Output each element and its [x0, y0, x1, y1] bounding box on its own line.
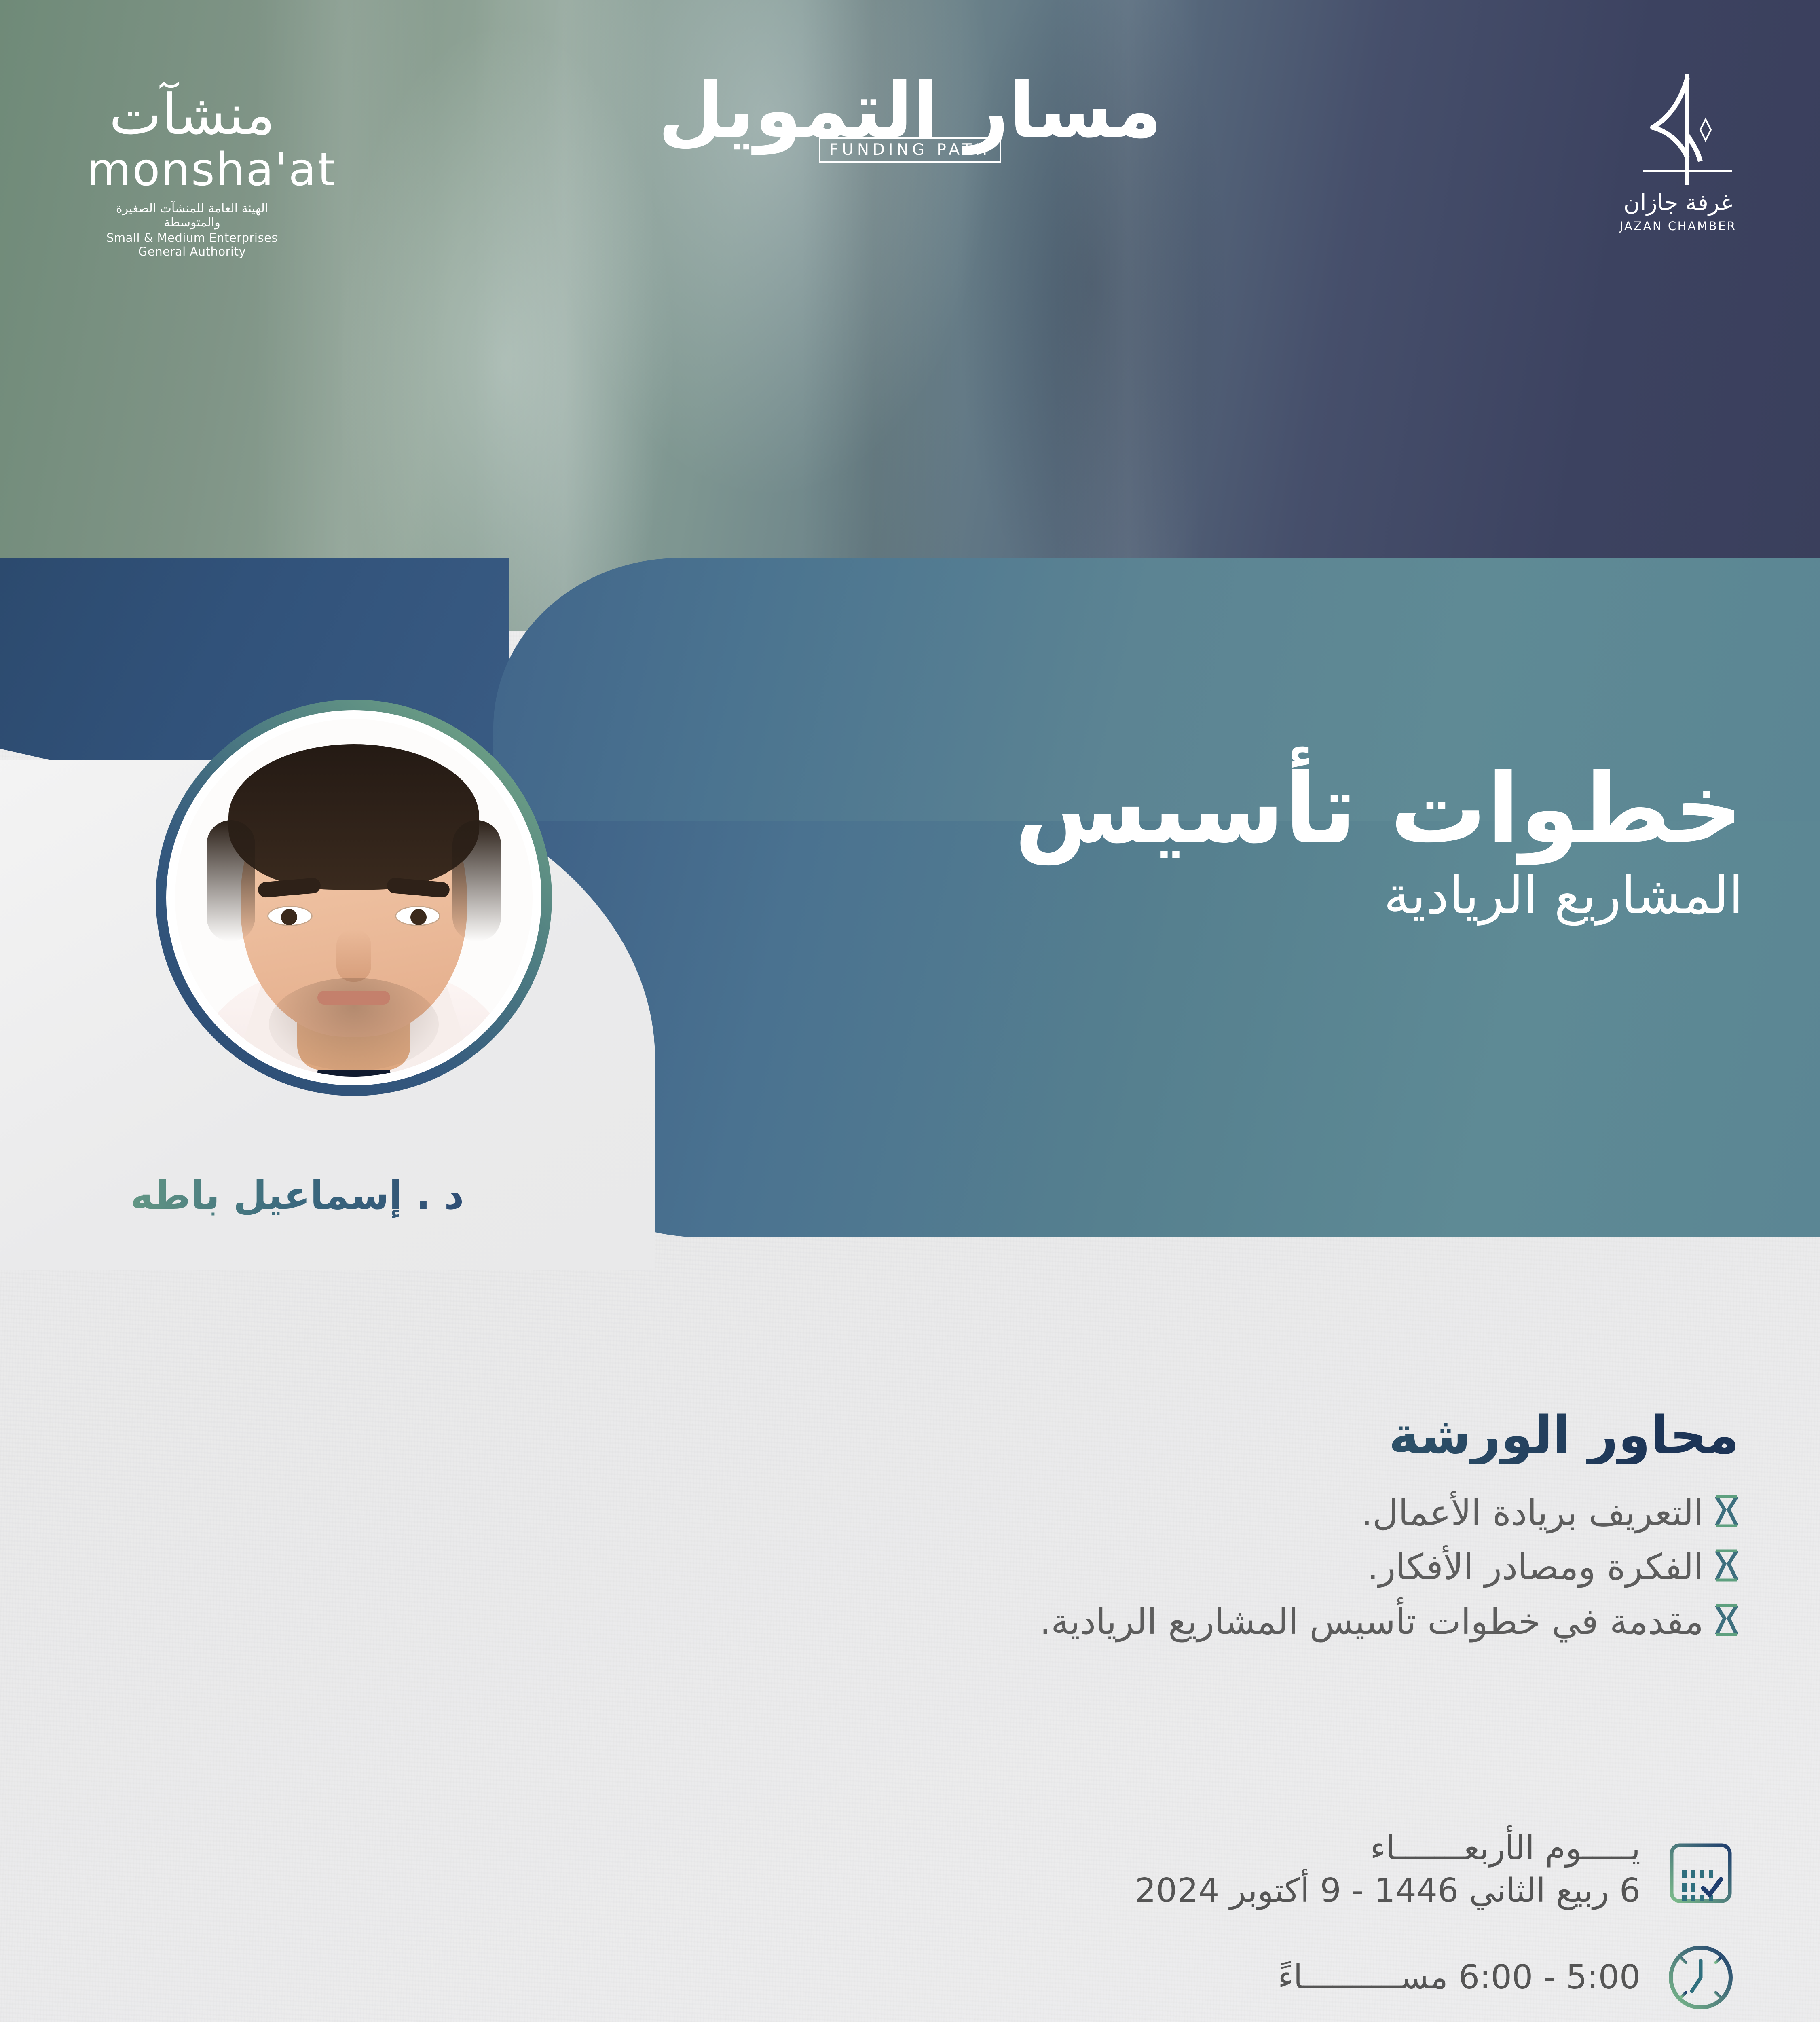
jazan-chamber-english: JAZAN CHAMBER — [1611, 219, 1745, 233]
speaker-name: د . إسماعيل باطه — [0, 1173, 594, 1218]
jazan-chamber-arabic: غرفة جازان — [1611, 190, 1745, 216]
funding-path-logo: مسار التمويل FUNDING PATH — [0, 73, 1820, 163]
agenda-item: مقدمة في خطوات تأسيس المشاريع الريادية. — [567, 1599, 1739, 1645]
sadu-bullet-icon — [1714, 1495, 1739, 1527]
event-time-value: 5:00 - 6:00 مســــــــــاءً — [1278, 1958, 1640, 1997]
workshop-title-block: خطوات تأسيس المشاريع الريادية — [571, 760, 1743, 925]
agenda-section: محاور الورشة التعريف بريادة الأعمال. الف… — [567, 1407, 1739, 1654]
speaker-portrait — [175, 719, 533, 1077]
monshaat-subtitle-english: Small & Medium Enterprises General Autho… — [87, 231, 297, 258]
agenda-item-label: مقدمة في خطوات تأسيس المشاريع الريادية. — [1040, 1599, 1704, 1645]
agenda-item-label: التعريف بريادة الأعمال. — [1361, 1490, 1704, 1536]
sadu-bullet-icon — [1714, 1549, 1739, 1582]
avatar — [156, 700, 552, 1096]
workshop-title-main: خطوات تأسيس — [571, 760, 1743, 859]
jazan-chamber-logo: غرفة جازان JAZAN CHAMBER — [1611, 71, 1745, 233]
avatar-frame — [166, 710, 541, 1085]
agenda-item-label: الفكرة ومصادر الأفكار. — [1367, 1544, 1704, 1590]
event-details: يـــــوم الأربعـــــــاء 6 ربيع الثاني 1… — [567, 1828, 1739, 2022]
agenda-item: الفكرة ومصادر الأفكار. — [567, 1544, 1739, 1590]
event-date-row: يـــــوم الأربعـــــــاء 6 ربيع الثاني 1… — [567, 1828, 1739, 1912]
event-date-full: 6 ربيع الثاني 1446 - 9 أكتوبر 2024 — [1135, 1872, 1640, 1910]
poster-canvas: منشآت monsha'at الهيئة العامة للمنشآت ال… — [0, 0, 1820, 2022]
funding-path-english-box: FUNDING PATH — [819, 137, 1001, 163]
monshaat-subtitle-arabic: الهيئة العامة للمنشآت الصغيرة والمتوسطة — [87, 201, 297, 230]
clock-icon — [1662, 1939, 1739, 2016]
event-date-day: يـــــوم الأربعـــــــاء — [1370, 1829, 1640, 1868]
agenda-item: التعريف بريادة الأعمال. — [567, 1490, 1739, 1536]
workshop-title-sub: المشاريع الريادية — [571, 866, 1743, 925]
funding-path-english: FUNDING PATH — [829, 141, 991, 159]
calendar-icon — [1662, 1832, 1739, 1909]
event-time-text: 5:00 - 6:00 مســــــــــاءً — [1278, 1957, 1640, 1999]
event-date-text: يـــــوم الأربعـــــــاء 6 ربيع الثاني 1… — [1135, 1828, 1640, 1912]
event-time-row: 5:00 - 6:00 مســــــــــاءً — [567, 1939, 1739, 2016]
sadu-bullet-icon — [1714, 1604, 1739, 1636]
jazan-chamber-mark-icon — [1611, 71, 1745, 188]
agenda-heading: محاور الورشة — [567, 1407, 1739, 1464]
